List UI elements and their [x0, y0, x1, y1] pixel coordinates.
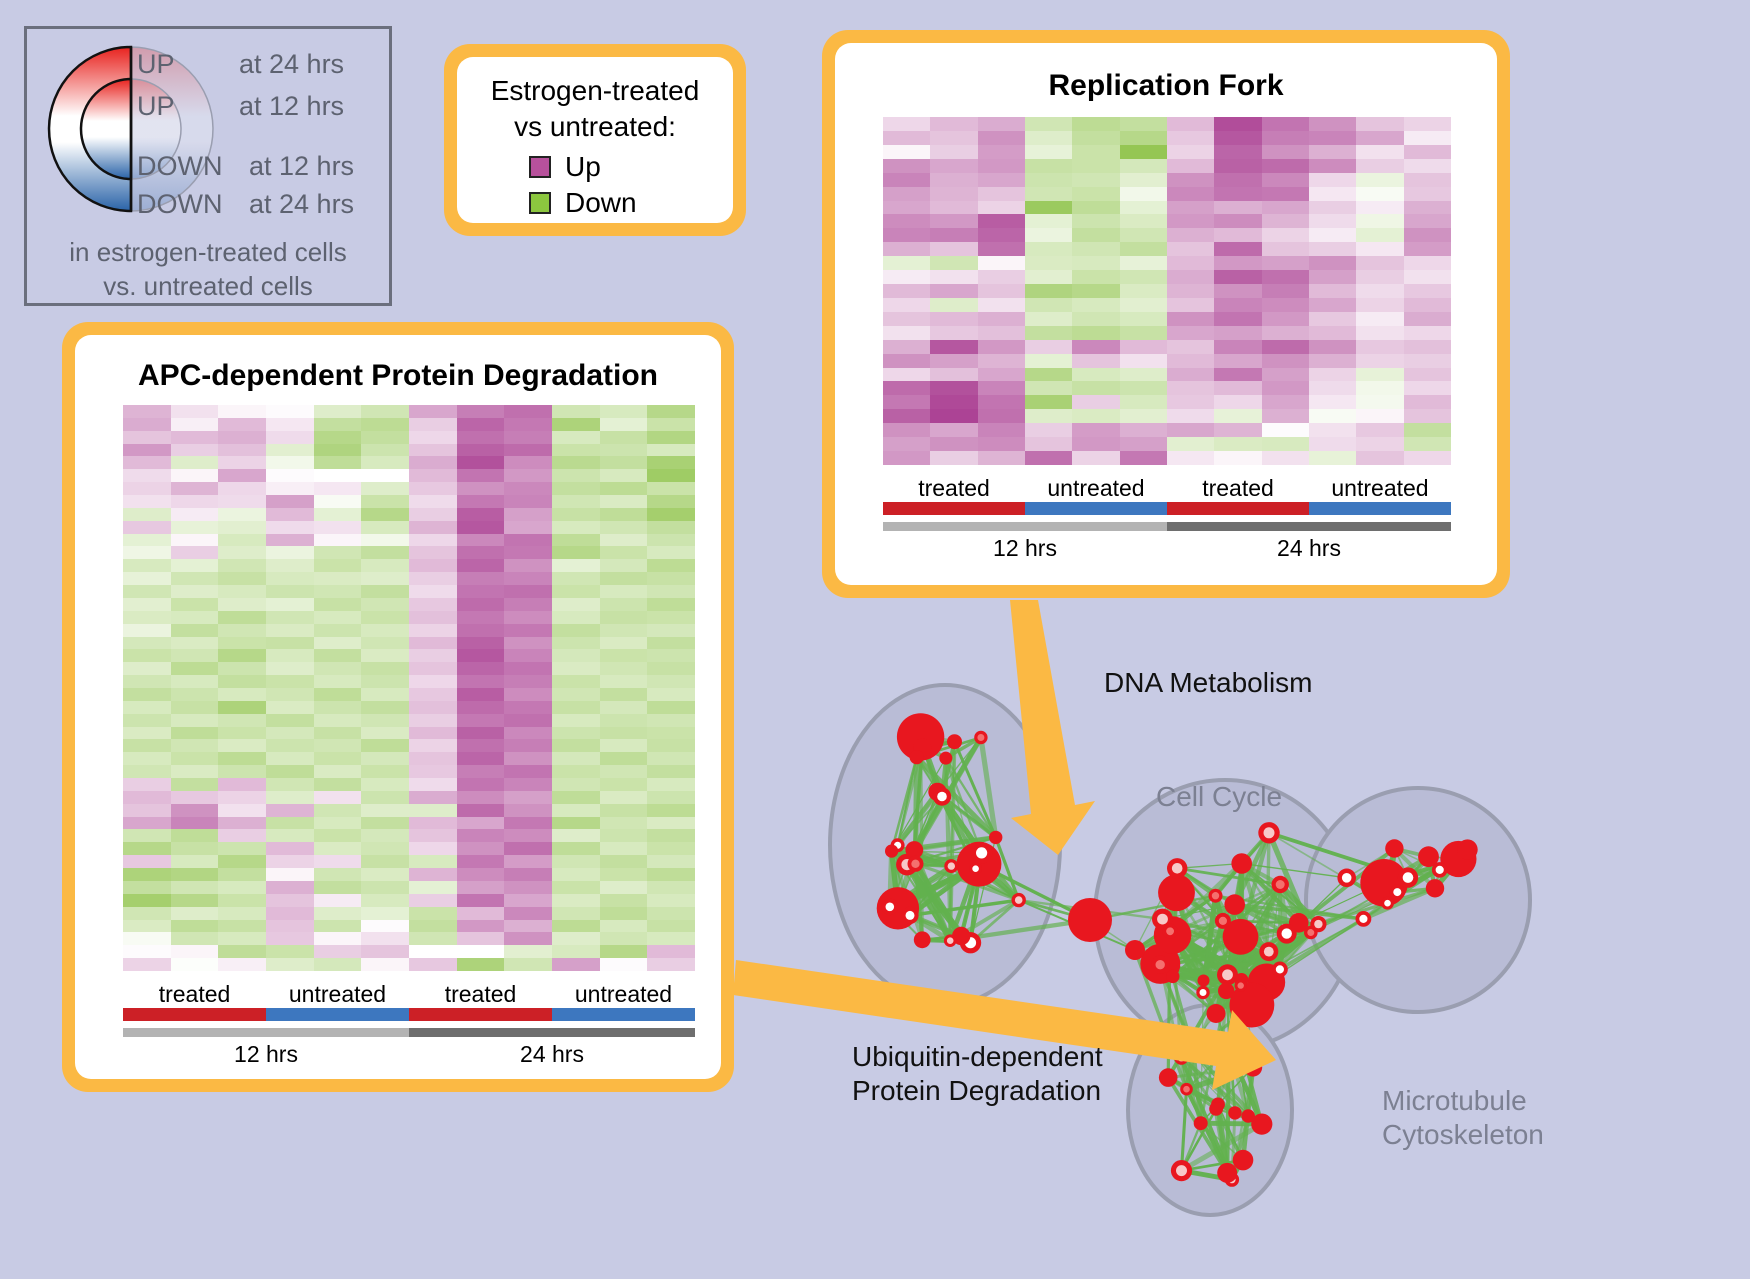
heatmap-cell: [1025, 298, 1072, 312]
heatmap-cell: [457, 662, 505, 675]
heatmap-cell: [647, 521, 695, 534]
heatmap-cell: [1120, 270, 1167, 284]
heatmap-cell: [171, 611, 219, 624]
updown-legend-panel: Estrogen-treated vs untreated: Up Down: [444, 44, 746, 236]
heatmap-cell: [1214, 256, 1261, 270]
network-node-core: [1157, 914, 1168, 925]
heatmap-cell: [457, 688, 505, 701]
heatmap-cell: [457, 405, 505, 418]
heatmap-cell: [171, 791, 219, 804]
heatmap-cell: [409, 637, 457, 650]
heatmap-cell: [1072, 201, 1119, 215]
heatmap-cell: [171, 521, 219, 534]
heatmap-cell: [266, 765, 314, 778]
heatmap-cell: [218, 572, 266, 585]
heatmap-cell: [1214, 131, 1261, 145]
network-node-core: [1314, 920, 1322, 928]
heatmap-cell: [171, 444, 219, 457]
heatmap-cell: [1120, 242, 1167, 256]
colorwheel-legend-box: UP at 24 hrs UP at 12 hrs DOWN at 12 hrs…: [24, 26, 392, 306]
heatmap-cell: [600, 675, 648, 688]
network-node-core: [911, 860, 919, 868]
heatmap-cell: [1072, 242, 1119, 256]
heatmap-cell: [1214, 242, 1261, 256]
heatmap-cell: [457, 804, 505, 817]
heatmap-cell: [1025, 326, 1072, 340]
heatmap-cell: [314, 456, 362, 469]
heatmap-cell: [314, 405, 362, 418]
group-label: untreated: [1309, 475, 1451, 502]
heatmap-cell: [552, 727, 600, 740]
heatmap-cell: [1214, 117, 1261, 131]
heatmap-cell: [552, 521, 600, 534]
heatmap-cell: [266, 804, 314, 817]
heatmap-cell: [171, 714, 219, 727]
heatmap-cell: [600, 431, 648, 444]
heatmap-cell: [409, 842, 457, 855]
heatmap-cell: [1025, 256, 1072, 270]
heatmap-cell: [552, 624, 600, 637]
network-node-core: [1178, 1054, 1185, 1061]
heatmap-cell: [1214, 284, 1261, 298]
replication-fork-time-bar: [883, 522, 1451, 531]
heatmap-cell: [171, 907, 219, 920]
heatmap-cell: [883, 214, 930, 228]
heatmap-cell: [883, 117, 930, 131]
heatmap-cell: [314, 495, 362, 508]
network-node: [947, 734, 962, 749]
network-node: [1209, 1102, 1223, 1116]
heatmap-cell: [504, 829, 552, 842]
heatmap-cell: [218, 932, 266, 945]
network-node-core: [1276, 965, 1284, 973]
heatmap-cell: [883, 368, 930, 382]
heatmap-cell: [978, 381, 1025, 395]
heatmap-cell: [457, 469, 505, 482]
heatmap-cell: [266, 894, 314, 907]
heatmap-cell: [600, 829, 648, 842]
heatmap-cell: [266, 546, 314, 559]
heatmap-cell: [266, 611, 314, 624]
heatmap-cell: [1072, 270, 1119, 284]
heatmap-cell: [218, 791, 266, 804]
heatmap-cell: [171, 778, 219, 791]
heatmap-cell: [552, 649, 600, 662]
heatmap-cell: [1214, 312, 1261, 326]
heatmap-cell: [218, 495, 266, 508]
heatmap-cell: [123, 637, 171, 650]
heatmap-cell: [552, 791, 600, 804]
heatmap-cell: [883, 131, 930, 145]
heatmap-cell: [361, 585, 409, 598]
heatmap-cell: [314, 868, 362, 881]
heatmap-cell: [504, 508, 552, 521]
heatmap-cell: [647, 945, 695, 958]
heatmap-cell: [883, 312, 930, 326]
heatmap-cell: [883, 423, 930, 437]
heatmap-cell: [457, 714, 505, 727]
heatmap-cell: [1072, 284, 1119, 298]
heatmap-cell: [552, 945, 600, 958]
heatmap-cell: [504, 688, 552, 701]
heatmap-cell: [1214, 395, 1261, 409]
heatmap-cell: [883, 159, 930, 173]
heatmap-cell: [883, 256, 930, 270]
group-color-bar: [883, 502, 1025, 515]
heatmap-cell: [978, 145, 1025, 159]
group-color-bar: [552, 1008, 695, 1021]
cluster-label-dna-metabolism: DNA Metabolism: [1104, 666, 1313, 700]
heatmap-cell: [457, 546, 505, 559]
heatmap-cell: [314, 482, 362, 495]
heatmap-cell: [218, 534, 266, 547]
heatmap-cell: [123, 714, 171, 727]
heatmap-cell: [1404, 409, 1451, 423]
colorwheel-caption: in estrogen-treated cells vs. untreated …: [27, 235, 389, 303]
heatmap-cell: [647, 920, 695, 933]
heatmap-cell: [171, 495, 219, 508]
heatmap-cell: [123, 598, 171, 611]
heatmap-cell: [1072, 173, 1119, 187]
heatmap-cell: [171, 546, 219, 559]
heatmap-cell: [218, 546, 266, 559]
heatmap-cell: [218, 817, 266, 830]
heatmap-cell: [1167, 298, 1214, 312]
heatmap-cell: [123, 842, 171, 855]
heatmap-cell: [883, 326, 930, 340]
heatmap-cell: [1356, 368, 1403, 382]
heatmap-cell: [978, 214, 1025, 228]
network-node: [1159, 1068, 1178, 1087]
heatmap-cell: [409, 508, 457, 521]
heatmap-cell: [266, 842, 314, 855]
heatmap-cell: [123, 508, 171, 521]
heatmap-cell: [361, 739, 409, 752]
heatmap-cell: [314, 881, 362, 894]
heatmap-cell: [1356, 159, 1403, 173]
heatmap-cell: [266, 418, 314, 431]
heatmap-cell: [1072, 117, 1119, 131]
heatmap-cell: [361, 791, 409, 804]
apc-degradation-inner: APC-dependent Protein Degradation treate…: [75, 335, 721, 1079]
heatmap-cell: [123, 765, 171, 778]
heatmap-cell: [457, 456, 505, 469]
group-label: treated: [883, 475, 1025, 502]
heatmap-cell: [361, 482, 409, 495]
heatmap-cell: [1167, 312, 1214, 326]
heatmap-cell: [1309, 131, 1356, 145]
heatmap-cell: [361, 675, 409, 688]
network-node: [1207, 1004, 1226, 1023]
heatmap-cell: [930, 437, 977, 451]
heatmap-cell: [314, 855, 362, 868]
heatmap-cell: [218, 508, 266, 521]
network-node-core: [947, 937, 954, 944]
heatmap-cell: [1120, 381, 1167, 395]
heatmap-cell: [266, 701, 314, 714]
heatmap-cell: [1167, 326, 1214, 340]
heatmap-cell: [600, 559, 648, 572]
heatmap-cell: [361, 868, 409, 881]
heatmap-cell: [409, 598, 457, 611]
heatmap-cell: [266, 508, 314, 521]
heatmap-cell: [1356, 409, 1403, 423]
heatmap-cell: [1214, 409, 1261, 423]
heatmap-cell: [600, 727, 648, 740]
heatmap-cell: [504, 752, 552, 765]
heatmap-cell: [647, 431, 695, 444]
heatmap-cell: [409, 727, 457, 740]
heatmap-cell: [1404, 214, 1451, 228]
heatmap-cell: [647, 456, 695, 469]
heatmap-cell: [647, 534, 695, 547]
heatmap-cell: [218, 611, 266, 624]
heatmap-cell: [218, 482, 266, 495]
heatmap-cell: [409, 405, 457, 418]
heatmap-cell: [552, 765, 600, 778]
group-label: treated: [1167, 475, 1309, 502]
heatmap-cell: [978, 173, 1025, 187]
heatmap-cell: [552, 907, 600, 920]
microtubule-line1: Microtubule: [1382, 1084, 1544, 1118]
heatmap-cell: [314, 752, 362, 765]
heatmap-cell: [1072, 256, 1119, 270]
heatmap-cell: [647, 508, 695, 521]
heatmap-cell: [1262, 409, 1309, 423]
heatmap-cell: [457, 791, 505, 804]
heatmap-cell: [1309, 395, 1356, 409]
heatmap-cell: [266, 444, 314, 457]
heatmap-cell: [1072, 298, 1119, 312]
heatmap-cell: [123, 624, 171, 637]
heatmap-cell: [123, 829, 171, 842]
heatmap-cell: [600, 791, 648, 804]
network-node-core: [1219, 917, 1227, 925]
heatmap-cell: [1214, 326, 1261, 340]
heatmap-cell: [1072, 131, 1119, 145]
heatmap-cell: [1262, 326, 1309, 340]
heatmap-cell: [218, 714, 266, 727]
heatmap-cell: [883, 437, 930, 451]
heatmap-cell: [1214, 270, 1261, 284]
network-node: [910, 750, 924, 764]
heatmap-cell: [930, 451, 977, 465]
heatmap-cell: [647, 817, 695, 830]
heatmap-cell: [978, 159, 1025, 173]
heatmap-cell: [457, 624, 505, 637]
network-node-core: [1342, 873, 1352, 883]
heatmap-cell: [600, 508, 648, 521]
heatmap-cell: [1167, 131, 1214, 145]
heatmap-cell: [171, 920, 219, 933]
heatmap-cell: [361, 945, 409, 958]
heatmap-cell: [883, 298, 930, 312]
heatmap-cell: [171, 894, 219, 907]
heatmap-cell: [1120, 326, 1167, 340]
heatmap-cell: [600, 662, 648, 675]
heatmap-cell: [457, 701, 505, 714]
heatmap-cell: [1262, 437, 1309, 451]
heatmap-cell: [123, 649, 171, 662]
heatmap-cell: [218, 920, 266, 933]
heatmap-cell: [504, 675, 552, 688]
group-color-bar: [1025, 502, 1167, 515]
heatmap-cell: [1356, 312, 1403, 326]
heatmap-cell: [1120, 117, 1167, 131]
heatmap-cell: [1167, 228, 1214, 242]
heatmap-cell: [552, 482, 600, 495]
heatmap-cell: [647, 894, 695, 907]
legend-item-down: Down: [529, 189, 637, 217]
heatmap-cell: [504, 572, 552, 585]
heatmap-cell: [266, 521, 314, 534]
heatmap-cell: [314, 688, 362, 701]
heatmap-cell: [314, 598, 362, 611]
heatmap-cell: [1214, 340, 1261, 354]
heatmap-cell: [457, 585, 505, 598]
heatmap-cell: [1356, 395, 1403, 409]
heatmap-cell: [266, 469, 314, 482]
heatmap-cell: [361, 469, 409, 482]
colorwheel-caption-line2: vs. untreated cells: [27, 269, 389, 303]
heatmap-cell: [1262, 354, 1309, 368]
heatmap-cell: [1167, 381, 1214, 395]
heatmap-cell: [361, 598, 409, 611]
heatmap-cell: [552, 894, 600, 907]
heatmap-cell: [1025, 117, 1072, 131]
heatmap-cell: [123, 920, 171, 933]
heatmap-cell: [171, 945, 219, 958]
heatmap-cell: [1262, 395, 1309, 409]
heatmap-cell: [552, 405, 600, 418]
heatmap-cell: [1404, 117, 1451, 131]
heatmap-cell: [1072, 451, 1119, 465]
heatmap-cell: [1404, 312, 1451, 326]
heatmap-cell: [123, 932, 171, 945]
heatmap-cell: [361, 894, 409, 907]
heatmap-cell: [457, 598, 505, 611]
heatmap-cell: [218, 727, 266, 740]
heatmap-cell: [171, 534, 219, 547]
heatmap-cell: [1404, 228, 1451, 242]
heatmap-cell: [123, 572, 171, 585]
heatmap-cell: [1262, 117, 1309, 131]
heatmap-cell: [457, 559, 505, 572]
heatmap-cell: [171, 572, 219, 585]
heatmap-cell: [1262, 312, 1309, 326]
heatmap-cell: [600, 842, 648, 855]
heatmap-cell: [1356, 437, 1403, 451]
heatmap-cell: [930, 214, 977, 228]
heatmap-cell: [647, 765, 695, 778]
heatmap-cell: [552, 752, 600, 765]
heatmap-cell: [123, 431, 171, 444]
heatmap-cell: [600, 444, 648, 457]
heatmap-cell: [1262, 284, 1309, 298]
network-node: [1385, 839, 1403, 857]
network-node: [1224, 894, 1245, 915]
heatmap-cell: [1025, 451, 1072, 465]
heatmap-cell: [883, 187, 930, 201]
heatmap-cell: [457, 431, 505, 444]
heatmap-cell: [1262, 368, 1309, 382]
heatmap-cell: [123, 418, 171, 431]
network-node: [1068, 898, 1112, 942]
heatmap-cell: [1072, 423, 1119, 437]
updown-legend-title-line2: vs untreated:: [457, 109, 733, 145]
heatmap-cell: [1167, 159, 1214, 173]
heatmap-cell: [409, 739, 457, 752]
heatmap-cell: [123, 739, 171, 752]
network-node: [885, 845, 898, 858]
heatmap-cell: [1404, 340, 1451, 354]
heatmap-cell: [409, 714, 457, 727]
heatmap-cell: [600, 405, 648, 418]
heatmap-cell: [1167, 395, 1214, 409]
heatmap-cell: [647, 444, 695, 457]
heatmap-cell: [218, 637, 266, 650]
heatmap-cell: [1072, 354, 1119, 368]
heatmap-cell: [266, 534, 314, 547]
heatmap-cell: [218, 881, 266, 894]
heatmap-cell: [600, 804, 648, 817]
heatmap-cell: [218, 778, 266, 791]
heatmap-cell: [361, 508, 409, 521]
heatmap-cell: [1120, 298, 1167, 312]
heatmap-cell: [1356, 340, 1403, 354]
heatmap-cell: [1214, 145, 1261, 159]
network-node-core: [937, 792, 947, 802]
heatmap-cell: [647, 675, 695, 688]
heatmap-cell: [1404, 368, 1451, 382]
heatmap-cell: [1120, 312, 1167, 326]
heatmap-cell: [218, 868, 266, 881]
legend-item-up: Up: [529, 153, 601, 181]
group-color-bar: [409, 1008, 552, 1021]
heatmap-cell: [314, 649, 362, 662]
heatmap-cell: [930, 256, 977, 270]
cluster-label-ubiquitin-degradation: Ubiquitin-dependent Protein Degradation: [852, 1040, 1103, 1108]
heatmap-cell: [1309, 145, 1356, 159]
network-node-core: [1359, 915, 1367, 923]
heatmap-cell: [218, 456, 266, 469]
heatmap-cell: [361, 920, 409, 933]
heatmap-cell: [552, 611, 600, 624]
heatmap-cell: [409, 958, 457, 971]
heatmap-cell: [218, 521, 266, 534]
heatmap-cell: [504, 405, 552, 418]
heatmap-cell: [314, 829, 362, 842]
heatmap-cell: [1025, 201, 1072, 215]
heatmap-cell: [1262, 131, 1309, 145]
heatmap-cell: [600, 688, 648, 701]
heatmap-cell: [218, 829, 266, 842]
time-label: 24 hrs: [409, 1041, 695, 1068]
heatmap-cell: [1072, 437, 1119, 451]
heatmap-cell: [123, 585, 171, 598]
heatmap-cell: [1120, 131, 1167, 145]
network-node: [1241, 1109, 1255, 1123]
heatmap-cell: [552, 431, 600, 444]
heatmap-cell: [457, 444, 505, 457]
colorwheel-row-2-label: DOWN: [137, 151, 222, 182]
heatmap-cell: [647, 649, 695, 662]
network-node: [1166, 970, 1179, 983]
heatmap-cell: [1167, 214, 1214, 228]
heatmap-cell: [171, 701, 219, 714]
heatmap-cell: [361, 829, 409, 842]
heatmap-cell: [978, 256, 1025, 270]
